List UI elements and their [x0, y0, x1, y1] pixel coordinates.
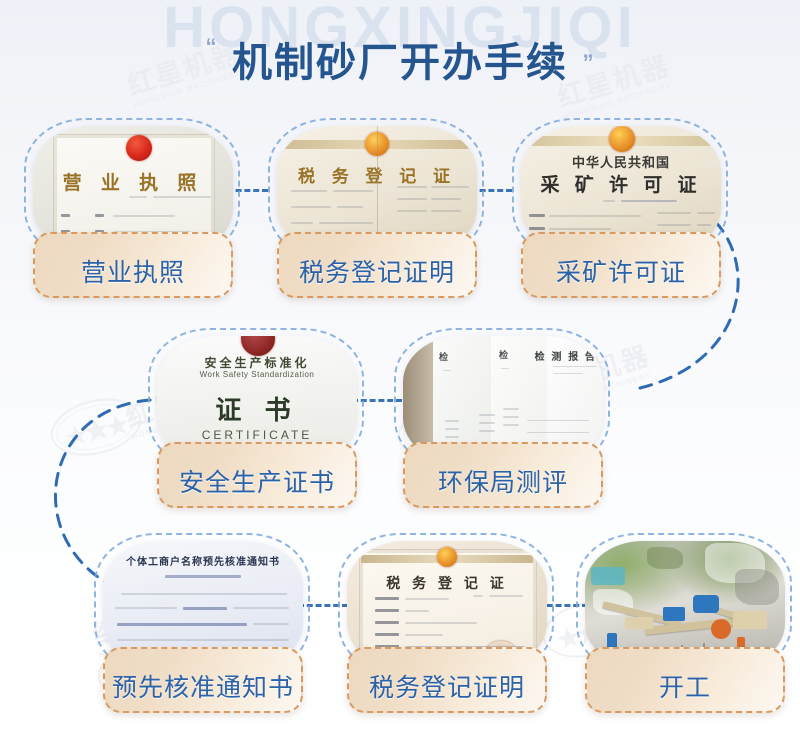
card-label-text: 预先核准通知书 — [112, 656, 294, 704]
infographic-stage: HONGXINGJIQI 红星机器 HONGXING MACHINERY 红星机… — [0, 0, 800, 749]
card-label-pill[interactable]: 预先核准通知书 — [103, 647, 303, 713]
flow-card-environmental-assessment[interactable]: 检 检 检 测 报 告 环保局测评 — [388, 336, 618, 508]
doc-title-en-text: CERTIFICATE — [157, 428, 357, 442]
page-title: “ 机制砂厂开办手续 ” — [0, 30, 800, 88]
doc-title-text: 检 测 报 告 — [535, 348, 597, 363]
flow-card-business-license[interactable]: 营 业 执 照 营业执照 — [18, 126, 248, 298]
page-title-text: 机制砂厂开办手续 — [232, 41, 568, 85]
card-label-pill[interactable]: 税务登记证明 — [347, 647, 547, 713]
card-label-text: 营业执照 — [81, 241, 185, 289]
card-label-pill[interactable]: 采矿许可证 — [521, 232, 721, 298]
doc-title-text: 营 业 执 照 — [33, 168, 233, 195]
card-label-pill[interactable]: 安全生产证书 — [157, 442, 357, 508]
flow-card-safety-production[interactable]: 安全生产标准化 Work Safety Standardization 证 书 … — [142, 336, 372, 508]
star-seal-watermark-icon — [42, 387, 149, 467]
doc-title-text: 证 书 — [157, 390, 357, 427]
card-label-text: 税务登记证明 — [369, 656, 525, 704]
card-label-pill[interactable]: 环保局测评 — [403, 442, 603, 508]
doc-title-text: 采 矿 许 可 证 — [521, 170, 721, 197]
doc-subtitle-text: 中华人民共和国 — [521, 152, 721, 171]
doc-title-text: 个体工商户名称预先核准通知书 — [103, 553, 303, 568]
flow-card-tax-registration-2[interactable]: 税 务 登 记 证 税务登记证明 — [332, 541, 562, 713]
card-label-text: 采矿许可证 — [556, 241, 686, 289]
flow-card-tax-registration-1[interactable]: 税 务 登 记 证 税务登记证明 — [262, 126, 492, 298]
flow-card-start-operation[interactable]: 开工 — [570, 541, 800, 713]
card-label-text: 环保局测评 — [438, 451, 568, 499]
card-label-pill[interactable]: 开工 — [585, 647, 785, 713]
card-label-pill[interactable]: 营业执照 — [33, 232, 233, 298]
doc-subtitle-en-text: Work Safety Standardization — [157, 370, 357, 379]
quote-close-icon: ” — [582, 50, 594, 75]
card-label-text: 开工 — [659, 656, 711, 704]
doc-subtitle-text: 安全生产标准化 — [157, 354, 357, 371]
doc-title-text: 税 务 登 记 证 — [347, 573, 547, 593]
card-label-text: 安全生产证书 — [179, 451, 335, 499]
flow-card-name-preapproval[interactable]: 个体工商户名称预先核准通知书 预先核准通知书 — [88, 541, 318, 713]
quote-open-icon: “ — [206, 34, 218, 59]
card-label-pill[interactable]: 税务登记证明 — [277, 232, 477, 298]
card-label-text: 税务登记证明 — [299, 241, 455, 289]
flow-card-mining-permit[interactable]: 中华人民共和国 采 矿 许 可 证 采矿许可证 — [506, 126, 736, 298]
